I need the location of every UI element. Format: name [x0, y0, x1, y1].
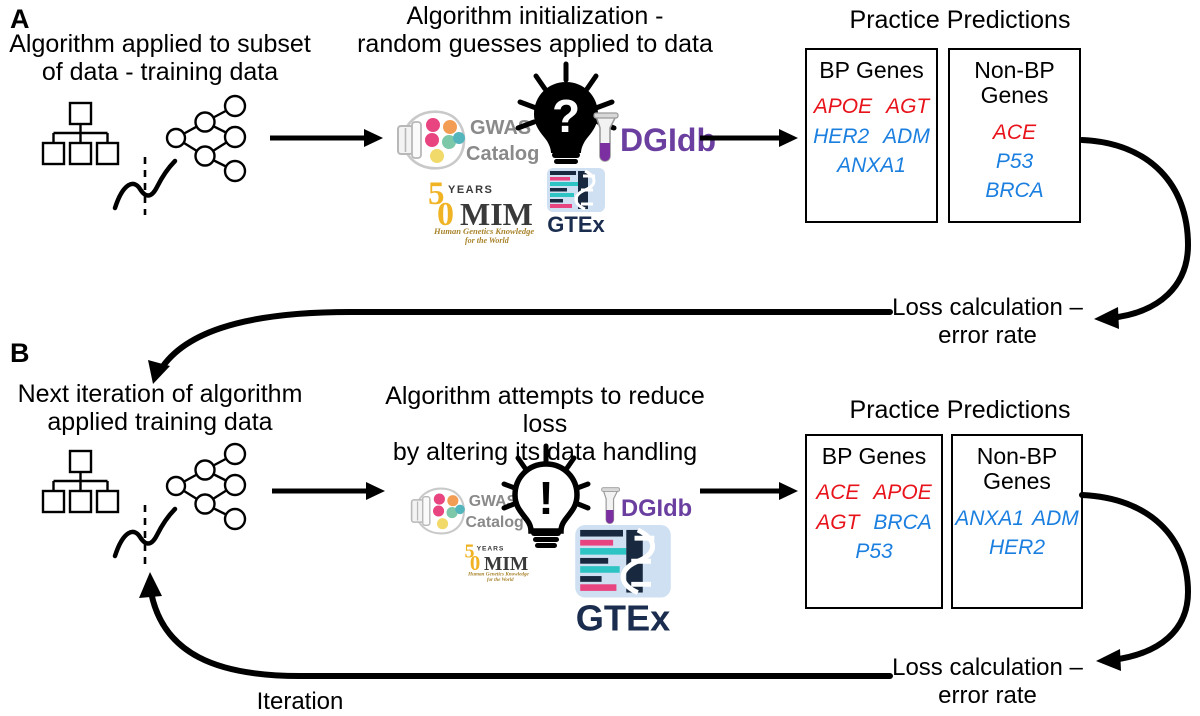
panel-b-letter: B [10, 340, 30, 367]
gene-item: APOE [873, 479, 931, 506]
panel-a-bp-genes-box: BP Genes APOE AGT HER2 ADM ANXA1 [805, 48, 938, 223]
panel-b-nonbp-genes-box: Non-BP Genes ANXA1 ADM HER2 [951, 434, 1083, 609]
gene-item: ACE [993, 119, 1036, 146]
gene-item: AGT [816, 509, 859, 536]
panel-a-middle-caption: Algorithm initialization - random guesse… [355, 2, 715, 58]
svg-text:YEARS: YEARS [448, 184, 493, 196]
gene-item: BRCA [985, 177, 1043, 204]
gene-item: HER2 [813, 123, 869, 150]
dgidb-logo-icon: DGIdb [592, 112, 702, 174]
neural-network-icon [167, 444, 245, 529]
panel-a-left-caption: Algorithm applied to subset of data - tr… [0, 30, 320, 86]
gene-row: BRCA [950, 177, 1079, 204]
gene-item: APOE [814, 93, 872, 120]
neural-network-icon [167, 96, 245, 181]
gene-item: ANXA1 [837, 152, 906, 179]
gene-item: P53 [996, 148, 1033, 175]
panel-a-nonbp-gene-list: ACE P53 BRCA [950, 119, 1079, 205]
panel-b-right-caption: Practice Predictions [810, 396, 1110, 424]
arrow-b-middle-to-right-icon [700, 478, 800, 504]
panel-a-letter: A [10, 6, 30, 33]
panel-a-right-caption: Practice Predictions [810, 6, 1110, 34]
gwas-catalog-logo-icon: GWAS Catalog [396, 104, 522, 176]
gtex-logo-icon: GTEx [545, 168, 607, 236]
arrow-b-left-to-middle-icon [272, 478, 387, 504]
gene-item: ADM [883, 123, 930, 150]
gene-row: ACE APOE [807, 479, 941, 506]
gene-row: HER2 ADM [807, 123, 936, 150]
panel-b-left-caption: Next iteration of algorithm applied trai… [0, 380, 320, 436]
svg-text:DGIdb: DGIdb [621, 496, 692, 522]
panel-a-loss-label: Loss calculation – error rate [875, 294, 1100, 349]
gene-item: ACE [816, 479, 859, 506]
gene-item: ANXA1 [955, 505, 1024, 532]
data-icons-panel-a [30, 95, 265, 220]
panel-a-bp-gene-list: APOE AGT HER2 ADM ANXA1 [807, 93, 936, 179]
hierarchy-tree-icon [43, 103, 118, 164]
panel-b-nonbp-gene-list: ANXA1 ADM HER2 [953, 505, 1081, 562]
panel-a-nonbp-genes-box: Non-BP Genes ACE P53 BRCA [948, 48, 1081, 223]
bulb-symbol-b: ! [538, 472, 553, 524]
gene-row: AGT BRCA [807, 509, 941, 536]
test-tube-icon [594, 113, 618, 161]
bulb-symbol-a: ? [552, 90, 580, 142]
curve-split-icon [115, 157, 175, 215]
gene-row: ANXA1 ADM [953, 505, 1081, 532]
omim-logo-icon: 5 YEARS 0 MIM Human Genetics Knowledge f… [424, 176, 552, 244]
gene-row: APOE AGT [807, 93, 936, 120]
panel-b-loss-label: Loss calculation – error rate [875, 654, 1100, 709]
svg-text:for the World: for the World [465, 236, 510, 245]
gene-item: HER2 [989, 534, 1045, 561]
gene-row: HER2 [953, 534, 1081, 561]
panel-a-nonbp-box-title: Non-BP Genes [950, 58, 1079, 109]
gene-row: ANXA1 [807, 152, 936, 179]
test-tube-icon [602, 488, 620, 524]
panel-b-nonbp-box-title: Non-BP Genes [953, 444, 1081, 495]
curved-arrow-b-to-loss-icon [1072, 490, 1200, 680]
iteration-label: Iteration [190, 688, 410, 716]
gtex-logo-label: GTEx [547, 212, 605, 237]
hierarchy-tree-icon [43, 451, 118, 512]
panel-a-bp-box-title: BP Genes [807, 58, 936, 83]
gene-row: ACE [950, 119, 1079, 146]
svg-text:Human Genetics Knowledge: Human Genetics Knowledge [433, 226, 534, 236]
figure-canvas: A Algorithm applied to subset of data - … [0, 0, 1200, 716]
feedback-arrow-a-to-b-icon [100, 290, 900, 390]
arrow-a-left-to-middle-icon [270, 125, 385, 151]
gene-item: AGT [886, 93, 929, 120]
gene-item: BRCA [873, 509, 931, 536]
iteration-loop-arrow-icon [100, 548, 900, 683]
arrow-a-middle-to-right-icon [700, 125, 800, 151]
panel-b-bp-box-title: BP Genes [807, 444, 941, 469]
gene-row: P53 [950, 148, 1079, 175]
